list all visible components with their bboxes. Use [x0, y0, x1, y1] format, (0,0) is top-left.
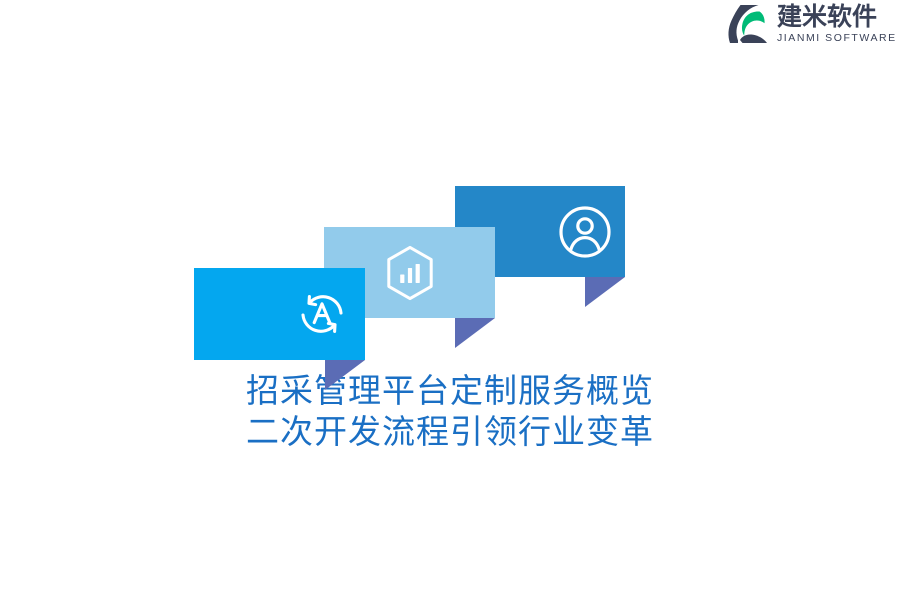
card-tail-analytics	[455, 318, 495, 348]
headline-block: 招采管理平台定制服务概览 二次开发流程引领行业变革	[0, 370, 900, 452]
user-avatar-icon	[557, 204, 613, 260]
card-body-automation	[194, 268, 365, 360]
headline-line-2: 二次开发流程引领行业变革	[0, 411, 900, 452]
poster-canvas: 建米软件 JIANMI SOFTWARE	[0, 0, 900, 600]
feature-card-automation	[194, 268, 365, 360]
feature-card-cluster	[0, 0, 900, 600]
headline-line-1: 招采管理平台定制服务概览	[0, 370, 900, 411]
card-tail-user	[585, 277, 625, 307]
hexagon-bar-chart-icon	[383, 244, 437, 302]
card-tail-automation	[325, 360, 365, 390]
refresh-letter-a-icon	[294, 286, 350, 342]
